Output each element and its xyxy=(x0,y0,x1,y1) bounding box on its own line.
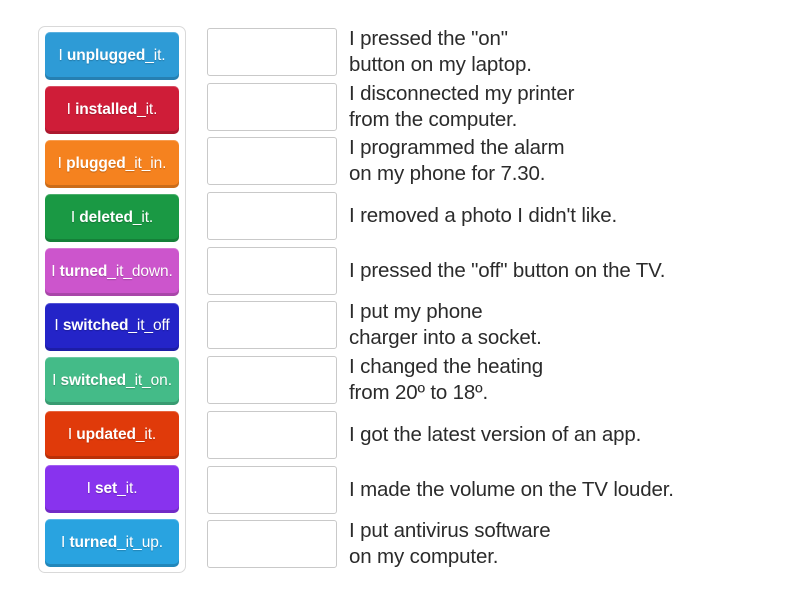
tile-label: I switched_it_off xyxy=(48,318,176,334)
tile-label-suffix: _it_down. xyxy=(107,263,172,280)
draggable-tile[interactable]: I updated_it. xyxy=(45,411,179,459)
answer-drop-box[interactable] xyxy=(207,192,337,240)
draggable-tile[interactable]: I turned_it_up. xyxy=(45,519,179,567)
answer-pair-row: I pressed the "off" button on the TV. xyxy=(207,245,787,300)
tile-label-verb: installed xyxy=(75,101,137,118)
tile-label-prefix: I xyxy=(61,534,65,551)
tile-label-prefix: I xyxy=(58,47,62,64)
tile-label-suffix: _it. xyxy=(145,47,165,64)
answer-pair-row: I programmed the alarm on my phone for 7… xyxy=(207,135,787,190)
sentence-text: I programmed the alarm on my phone for 7… xyxy=(349,135,787,187)
draggable-tile[interactable]: I turned_it_down. xyxy=(45,248,179,296)
answer-drop-box[interactable] xyxy=(207,137,337,185)
answer-pair-list: I pressed the "on" button on my laptop.I… xyxy=(207,26,787,573)
tile-label-verb: deleted xyxy=(79,209,133,226)
tile-label-verb: plugged xyxy=(66,155,126,172)
answer-drop-box[interactable] xyxy=(207,411,337,459)
tile-label-prefix: I xyxy=(87,480,91,497)
sentence-text: I changed the heating from 20º to 18º. xyxy=(349,354,787,406)
tile-label-verb: switched xyxy=(63,317,129,334)
answer-pair-row: I removed a photo I didn't like. xyxy=(207,190,787,245)
tile-label-verb: unplugged xyxy=(67,47,145,64)
tile-label: I turned_it_down. xyxy=(48,264,176,280)
sentence-text: I pressed the "on" button on my laptop. xyxy=(349,26,787,78)
tile-label-verb: switched xyxy=(61,372,127,389)
tile-label-verb: updated xyxy=(76,426,136,443)
tile-label-verb: turned xyxy=(69,534,117,551)
sentence-text: I disconnected my printer from the compu… xyxy=(349,81,787,133)
tile-label-prefix: I xyxy=(68,426,72,443)
answer-pair-row: I made the volume on the TV louder. xyxy=(207,464,787,519)
sentence-text: I removed a photo I didn't like. xyxy=(349,190,787,229)
tile-label-prefix: I xyxy=(51,263,55,280)
answer-drop-box[interactable] xyxy=(207,301,337,349)
sentence-text: I made the volume on the TV louder. xyxy=(349,464,787,503)
answer-drop-box[interactable] xyxy=(207,356,337,404)
answer-pair-row: I got the latest version of an app. xyxy=(207,409,787,464)
draggable-tile[interactable]: I set_it. xyxy=(45,465,179,513)
tile-label: I set_it. xyxy=(48,481,176,497)
tile-label-suffix: _it. xyxy=(136,426,156,443)
tile-label-prefix: I xyxy=(58,155,62,172)
draggable-tile[interactable]: I deleted_it. xyxy=(45,194,179,242)
sentence-text: I got the latest version of an app. xyxy=(349,409,787,448)
tile-label: I deleted_it. xyxy=(48,210,176,226)
tile-label-verb: set xyxy=(95,480,117,497)
draggable-tile[interactable]: I plugged_it_in. xyxy=(45,140,179,188)
draggable-tile[interactable]: I unplugged_it. xyxy=(45,32,179,80)
tile-label-suffix: _it_on. xyxy=(126,372,172,389)
answer-drop-box[interactable] xyxy=(207,520,337,568)
draggable-tile[interactable]: I switched_it_off xyxy=(45,303,179,351)
answer-pair-row: I pressed the "on" button on my laptop. xyxy=(207,26,787,81)
sentence-text: I pressed the "off" button on the TV. xyxy=(349,245,787,284)
draggable-tile-tray: I unplugged_it.I installed_it.I plugged_… xyxy=(38,26,186,573)
tile-label: I updated_it. xyxy=(48,427,176,443)
answer-drop-box[interactable] xyxy=(207,466,337,514)
tile-label-suffix: _it. xyxy=(133,209,153,226)
tile-label: I switched_it_on. xyxy=(48,373,176,389)
tile-label: I installed_it. xyxy=(48,102,176,118)
draggable-tile[interactable]: I installed_it. xyxy=(45,86,179,134)
tile-label: I plugged_it_in. xyxy=(48,156,176,172)
tile-label-prefix: I xyxy=(54,317,58,334)
answer-drop-box[interactable] xyxy=(207,247,337,295)
tile-label-prefix: I xyxy=(67,101,71,118)
tile-label-verb: turned xyxy=(60,263,108,280)
tile-label-suffix: _it. xyxy=(137,101,157,118)
tile-label-prefix: I xyxy=(52,372,56,389)
tile-label-suffix: _it. xyxy=(117,480,137,497)
sentence-text: I put antivirus software on my computer. xyxy=(349,518,787,570)
answer-drop-box[interactable] xyxy=(207,83,337,131)
tile-label: I turned_it_up. xyxy=(48,535,176,551)
tile-label-prefix: I xyxy=(71,209,75,226)
answer-pair-row: I disconnected my printer from the compu… xyxy=(207,81,787,136)
tile-label-suffix: _it_in. xyxy=(126,155,167,172)
sentence-text: I put my phone charger into a socket. xyxy=(349,299,787,351)
answer-drop-box[interactable] xyxy=(207,28,337,76)
match-up-activity: I unplugged_it.I installed_it.I plugged_… xyxy=(0,0,800,600)
tile-label-suffix: _it_off xyxy=(128,317,169,334)
tile-label-suffix: _it_up. xyxy=(117,534,163,551)
answer-pair-row: I put antivirus software on my computer. xyxy=(207,518,787,573)
tile-label: I unplugged_it. xyxy=(48,48,176,64)
answer-pair-row: I put my phone charger into a socket. xyxy=(207,299,787,354)
draggable-tile[interactable]: I switched_it_on. xyxy=(45,357,179,405)
answer-pair-row: I changed the heating from 20º to 18º. xyxy=(207,354,787,409)
